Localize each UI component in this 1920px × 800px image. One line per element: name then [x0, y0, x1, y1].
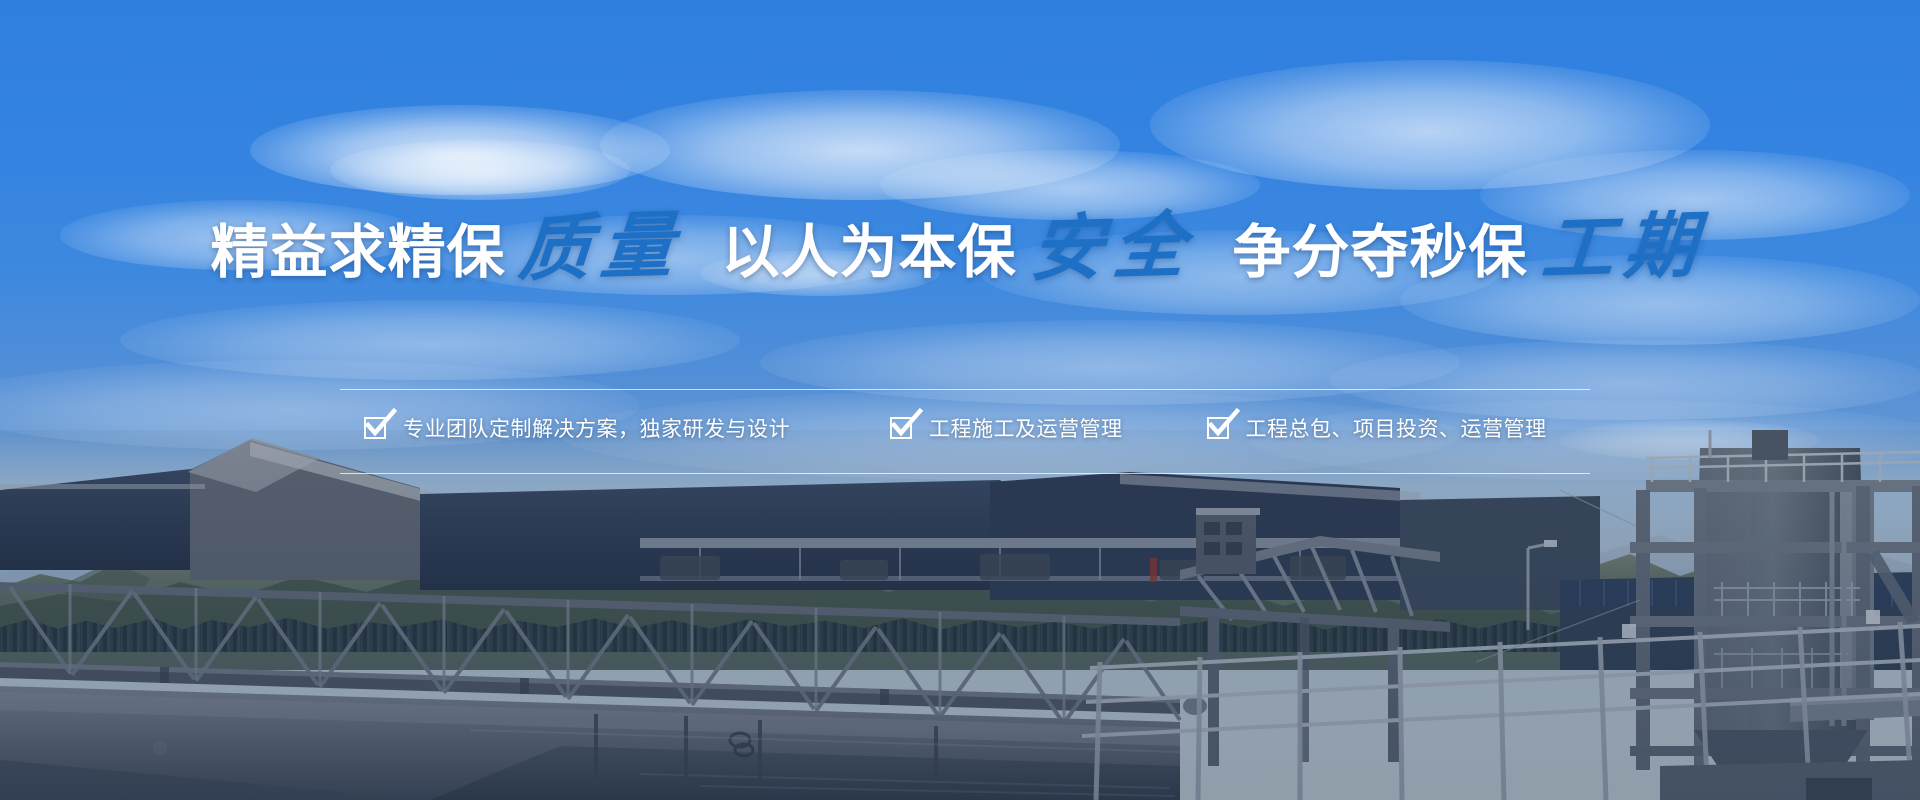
control-hut — [1196, 508, 1260, 574]
headline: 精益求精保质量 以人为本保安全 争分夺秒保工期 — [0, 212, 1920, 284]
feature-item-1[interactable]: 专业团队定制解决方案，独家研发与设计 — [364, 413, 790, 443]
headline-accent-3: 工期 — [1525, 209, 1713, 286]
feature-item-3[interactable]: 工程总包、项目投资、运营管理 — [1207, 413, 1547, 443]
plant-foreground — [0, 430, 1920, 800]
headline-white-2: 以人为本保 — [721, 220, 1016, 285]
checkbox-checked-icon — [364, 417, 386, 439]
hero-banner: 精益求精保质量 以人为本保安全 争分夺秒保工期 专业团队定制解决方案，独家研发与… — [0, 0, 1920, 800]
divider-bottom — [340, 473, 1590, 474]
headline-white-3: 争分夺秒保 — [1233, 220, 1528, 285]
feature-label: 专业团队定制解决方案，独家研发与设计 — [403, 413, 790, 443]
checkbox-checked-icon — [1207, 417, 1229, 439]
feature-list: 专业团队定制解决方案，独家研发与设计 工程施工及运营管理 工程总包、项目投资、运… — [340, 404, 1590, 452]
headline-segment-3: 争分夺秒保工期 — [1233, 212, 1710, 284]
headline-white-1: 精益求精保 — [210, 220, 505, 285]
feature-item-2[interactable]: 工程施工及运营管理 — [890, 413, 1123, 443]
checkbox-checked-icon — [890, 417, 912, 439]
headline-accent-1: 质量 — [502, 209, 690, 286]
headline-segment-1: 精益求精保质量 — [210, 212, 687, 284]
headline-segment-2: 以人为本保安全 — [721, 212, 1198, 284]
divider-top — [340, 389, 1590, 390]
feature-label: 工程施工及运营管理 — [929, 413, 1123, 443]
headline-accent-2: 安全 — [1013, 209, 1201, 286]
feature-label: 工程总包、项目投资、运营管理 — [1246, 413, 1547, 443]
